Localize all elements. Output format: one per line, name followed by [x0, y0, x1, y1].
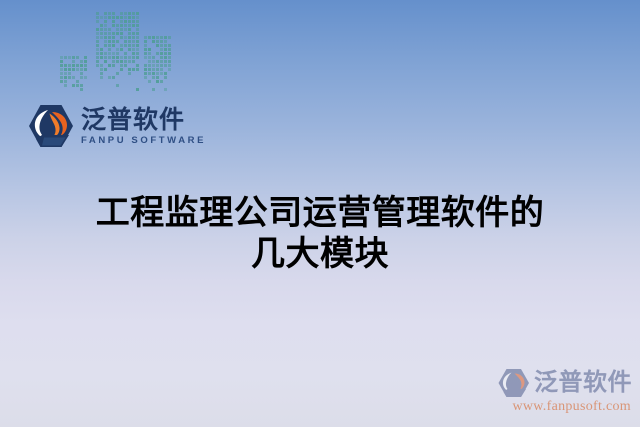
skyline-pixel: [112, 16, 115, 19]
skyline-pixel: [60, 68, 63, 71]
skyline-pixel: [120, 12, 123, 15]
skyline-pixel: [100, 64, 103, 67]
skyline-pixel: [60, 76, 63, 79]
skyline-pixel: [128, 56, 131, 59]
skyline-pixel: [72, 68, 75, 71]
skyline-pixel: [128, 48, 131, 51]
skyline-pixel: [124, 60, 127, 63]
skyline-pixel: [128, 68, 131, 71]
skyline-pixel: [132, 24, 135, 27]
skyline-pixel: [168, 52, 171, 55]
skyline-pixel: [100, 28, 103, 31]
skyline-pixel: [108, 12, 111, 15]
skyline-pixel: [124, 40, 127, 43]
skyline-pixel: [124, 64, 127, 67]
skyline-pixel: [144, 48, 147, 51]
skyline-pixel: [144, 44, 147, 47]
skyline-pixel: [156, 52, 159, 55]
skyline-pixel: [116, 32, 119, 35]
skyline-pixel: [96, 52, 99, 55]
skyline-pixel: [108, 64, 111, 67]
skyline-pixel: [128, 36, 131, 39]
skyline-pixel: [60, 56, 63, 59]
skyline-pixel: [112, 32, 115, 35]
skyline-pixel: [84, 64, 87, 67]
skyline-pixel: [124, 52, 127, 55]
skyline-pixel: [164, 64, 167, 67]
skyline-pixel: [164, 88, 167, 91]
skyline-pixel: [104, 32, 107, 35]
skyline-pixel: [84, 56, 87, 59]
skyline-pixel: [132, 68, 135, 71]
page-title: 工程监理公司运营管理软件的 几大模块: [0, 193, 640, 275]
skyline-pixel: [148, 72, 151, 75]
skyline-pixel: [132, 12, 135, 15]
skyline-pixel: [120, 28, 123, 31]
skyline-pixel: [132, 36, 135, 39]
skyline-pixel: [108, 40, 111, 43]
skyline-pixel: [168, 56, 171, 59]
skyline-pixel: [100, 56, 103, 59]
skyline-pixel: [156, 44, 159, 47]
skyline-pixel: [60, 64, 63, 67]
skyline-pixel: [112, 12, 115, 15]
skyline-pixel: [96, 36, 99, 39]
skyline-pixel: [168, 60, 171, 63]
skyline-pixel: [104, 28, 107, 31]
skyline-pixel: [116, 60, 119, 63]
skyline-pixel: [164, 56, 167, 59]
skyline-pixel: [160, 68, 163, 71]
skyline-pixel: [64, 84, 67, 87]
skyline-pixel: [132, 20, 135, 23]
skyline-pixel: [148, 56, 151, 59]
skyline-pixel: [160, 44, 163, 47]
skyline-pixel: [136, 88, 139, 91]
skyline-pixel: [132, 16, 135, 19]
skyline-pixel: [136, 44, 139, 47]
skyline-pixel: [104, 68, 107, 71]
page-title-line-2: 几大模块: [0, 234, 640, 275]
skyline-pixel: [80, 76, 83, 79]
skyline-pixel: [148, 36, 151, 39]
skyline-pixel: [128, 40, 131, 43]
skyline-pixel: [104, 36, 107, 39]
skyline-pixel: [152, 60, 155, 63]
skyline-pixel: [104, 52, 107, 55]
skyline-pixel: [144, 56, 147, 59]
skyline-pixel: [72, 76, 75, 79]
skyline-pixel: [60, 72, 63, 75]
skyline-pixel: [144, 76, 147, 79]
skyline-pixel: [112, 20, 115, 23]
skyline-pixel: [96, 60, 99, 63]
skyline-pixel: [104, 40, 107, 43]
skyline-pixel: [128, 60, 131, 63]
skyline-pixel: [128, 72, 131, 75]
fanpu-logo-mark-icon: [28, 104, 74, 148]
skyline-pixel: [100, 76, 103, 79]
skyline-pixel: [128, 28, 131, 31]
skyline-pixel: [104, 60, 107, 63]
skyline-pixel: [96, 12, 99, 15]
skyline-pixel: [148, 80, 151, 83]
skyline-pixel: [120, 64, 123, 67]
skyline-pixel: [64, 76, 67, 79]
skyline-pixel: [152, 40, 155, 43]
skyline-pixel: [80, 64, 83, 67]
skyline-pixel: [132, 52, 135, 55]
skyline-pixel: [104, 16, 107, 19]
skyline-pixel: [100, 48, 103, 51]
skyline-pixel: [136, 32, 139, 35]
skyline-pixel: [120, 20, 123, 23]
skyline-pixel: [72, 56, 75, 59]
skyline-pixel: [112, 60, 115, 63]
skyline-pixel: [120, 56, 123, 59]
skyline-pixel: [156, 60, 159, 63]
skyline-pixel: [164, 60, 167, 63]
skyline-pixel: [160, 64, 163, 67]
skyline-pixel: [68, 64, 71, 67]
skyline-pixel: [148, 48, 151, 51]
skyline-pixel: [112, 64, 115, 67]
skyline-pixel: [104, 20, 107, 23]
skyline-pixel: [148, 68, 151, 71]
skyline-pixel: [144, 36, 147, 39]
skyline-pixel: [156, 80, 159, 83]
skyline-pixel: [120, 32, 123, 35]
skyline-pixel: [152, 68, 155, 71]
brand-name-chinese: 泛普软件: [81, 107, 206, 134]
skyline-pixel: [124, 56, 127, 59]
skyline-pixel: [164, 72, 167, 75]
skyline-pixel: [160, 80, 163, 83]
skyline-pixel: [132, 56, 135, 59]
skyline-pixel: [72, 64, 75, 67]
skyline-pixel: [136, 28, 139, 31]
watermark-logo-row: 泛普软件: [488, 368, 632, 398]
skyline-pixel: [132, 60, 135, 63]
skyline-pixel: [112, 52, 115, 55]
skyline-pixel: [124, 44, 127, 47]
promo-slide: 泛普软件 FANPU SOFTWARE 工程监理公司运营管理软件的 几大模块 泛…: [0, 0, 640, 427]
skyline-pixel: [68, 68, 71, 71]
skyline-pixel: [116, 72, 119, 75]
skyline-pixel: [76, 64, 79, 67]
skyline-pixel: [164, 40, 167, 43]
skyline-pixel: [124, 20, 127, 23]
skyline-pixel: [160, 40, 163, 43]
skyline-pixel: [72, 84, 75, 87]
skyline-pixel: [72, 60, 75, 63]
skyline-pixel: [136, 16, 139, 19]
skyline-pixel: [136, 56, 139, 59]
skyline-pixel: [148, 60, 151, 63]
skyline-pixel: [100, 16, 103, 19]
skyline-pixel: [136, 20, 139, 23]
skyline-pixel: [120, 48, 123, 51]
skyline-pixel: [108, 48, 111, 51]
skyline-pixel: [164, 44, 167, 47]
skyline-pixel: [148, 52, 151, 55]
skyline-pixel: [108, 16, 111, 19]
skyline-pixel: [128, 20, 131, 23]
skyline-pixel: [164, 36, 167, 39]
skyline-pixel: [136, 40, 139, 43]
page-title-line-1: 工程监理公司运营管理软件的: [0, 193, 640, 234]
skyline-pixel: [108, 76, 111, 79]
skyline-pixel: [100, 52, 103, 55]
skyline-pixel: [80, 60, 83, 63]
skyline-pixel: [160, 60, 163, 63]
brand-name-english: FANPU SOFTWARE: [81, 135, 206, 147]
skyline-pixel: [164, 76, 167, 79]
skyline-pixel: [76, 80, 79, 83]
skyline-pixel: [168, 68, 171, 71]
skyline-pixel: [160, 72, 163, 75]
skyline-pixel: [120, 24, 123, 27]
skyline-pixel: [112, 40, 115, 43]
skyline-pixel: [96, 20, 99, 23]
skyline-pixel: [112, 36, 115, 39]
skyline-pixel: [164, 48, 167, 51]
skyline-pixel: [100, 36, 103, 39]
skyline-pixel: [96, 44, 99, 47]
skyline-pixel: [132, 44, 135, 47]
skyline-pixel: [112, 44, 115, 47]
skyline-pixel: [112, 24, 115, 27]
skyline-pixel: [128, 24, 131, 27]
skyline-pixel: [104, 44, 107, 47]
skyline-pixel: [108, 32, 111, 35]
skyline-pixel: [120, 44, 123, 47]
skyline-pixel: [108, 52, 111, 55]
skyline-pixel: [156, 36, 159, 39]
skyline-pixel: [156, 40, 159, 43]
skyline-pixel: [112, 76, 115, 79]
brand-logo: 泛普软件 FANPU SOFTWARE: [28, 104, 206, 148]
skyline-pixel: [100, 72, 103, 75]
skyline-pixel: [160, 52, 163, 55]
skyline-pixel: [164, 52, 167, 55]
watermark-url: www.fanpusoft.com: [488, 399, 632, 415]
skyline-pixel: [136, 68, 139, 71]
skyline-pixel: [136, 24, 139, 27]
skyline-pixel: [132, 32, 135, 35]
skyline-pixel: [116, 56, 119, 59]
skyline-pixel: [152, 64, 155, 67]
skyline-pixel: [120, 68, 123, 71]
skyline-pixel: [116, 24, 119, 27]
skyline-pixel: [80, 88, 83, 91]
skyline-pixel: [132, 48, 135, 51]
skyline-pixel: [96, 56, 99, 59]
skyline-pixel: [64, 64, 67, 67]
skyline-pixel: [96, 40, 99, 43]
skyline-pixel: [136, 48, 139, 51]
skyline-pixel: [124, 36, 127, 39]
skyline-pixel: [64, 68, 67, 71]
skyline-pixel: [80, 84, 83, 87]
skyline-pixel: [76, 84, 79, 87]
skyline-pixel: [96, 28, 99, 31]
skyline-pixel: [108, 44, 111, 47]
skyline-pixel: [156, 68, 159, 71]
skyline-pixel: [100, 24, 103, 27]
skyline-pixel: [128, 16, 131, 19]
skyline-pixel: [120, 16, 123, 19]
skyline-pixel: [152, 88, 155, 91]
skyline-pixel: [152, 72, 155, 75]
skyline-pixel: [136, 36, 139, 39]
skyline-pixel: [156, 76, 159, 79]
skyline-pixel: [156, 64, 159, 67]
skyline-pixel: [144, 64, 147, 67]
skyline-pixel: [128, 32, 131, 35]
skyline-pixel: [100, 68, 103, 71]
skyline-pixel: [116, 28, 119, 31]
skyline-pixel: [132, 40, 135, 43]
skyline-pixel: [108, 28, 111, 31]
skyline-pixel: [144, 52, 147, 55]
skyline-pixel: [136, 52, 139, 55]
skyline-pixel: [64, 56, 67, 59]
skyline-pixel: [160, 56, 163, 59]
watermark-brand-name: 泛普软件: [534, 370, 632, 396]
watermark-logo-mark-icon: [498, 368, 530, 398]
skyline-pixel: [112, 56, 115, 59]
skyline-pixel: [168, 48, 171, 51]
skyline-pixel: [104, 56, 107, 59]
skyline-pixel: [124, 28, 127, 31]
skyline-pixel: [160, 48, 163, 51]
skyline-pixel: [144, 68, 147, 71]
skyline-pixel: [136, 12, 139, 15]
skyline-pixel: [136, 64, 139, 67]
skyline-pixel: [128, 44, 131, 47]
skyline-pixel: [100, 32, 103, 35]
skyline-pixel: [124, 24, 127, 27]
skyline-pixel: [68, 56, 71, 59]
skyline-pixel: [68, 76, 71, 79]
skyline-pixel: [104, 12, 107, 15]
skyline-pixel: [128, 12, 131, 15]
skyline-pixel: [104, 24, 107, 27]
skyline-pixel: [84, 68, 87, 71]
skyline-pixel: [60, 60, 63, 63]
skyline-pixel: [80, 68, 83, 71]
skyline-pixel: [156, 72, 159, 75]
skyline-pixel: [152, 76, 155, 79]
skyline-pixel: [124, 16, 127, 19]
skyline-pixel: [120, 36, 123, 39]
skyline-pixel: [96, 48, 99, 51]
skyline-pixel: [116, 16, 119, 19]
skyline-pixel: [144, 40, 147, 43]
skyline-pixel: [80, 72, 83, 75]
pixel-skyline-decoration: [60, 12, 170, 100]
skyline-pixel: [84, 60, 87, 63]
skyline-pixel: [120, 60, 123, 63]
skyline-pixel: [148, 64, 151, 67]
skyline-pixel: [64, 80, 67, 83]
skyline-pixel: [96, 64, 99, 67]
skyline-pixel: [64, 72, 67, 75]
brand-logo-wordmark: 泛普软件 FANPU SOFTWARE: [81, 105, 206, 147]
skyline-pixel: [124, 12, 127, 15]
skyline-pixel: [96, 32, 99, 35]
skyline-pixel: [168, 44, 171, 47]
skyline-pixel: [76, 68, 79, 71]
skyline-pixel: [116, 48, 119, 51]
skyline-pixel: [116, 52, 119, 55]
skyline-pixel: [152, 56, 155, 59]
skyline-pixel: [168, 36, 171, 39]
skyline-pixel: [116, 84, 119, 87]
skyline-pixel: [68, 72, 71, 75]
watermark: 泛普软件 www.fanpusoft.com: [488, 368, 632, 415]
skyline-pixel: [108, 36, 111, 39]
skyline-pixel: [96, 16, 99, 19]
skyline-pixel: [152, 36, 155, 39]
skyline-pixel: [144, 72, 147, 75]
skyline-pixel: [168, 64, 171, 67]
skyline-pixel: [160, 36, 163, 39]
skyline-pixel: [60, 80, 63, 83]
skyline-pixel: [108, 56, 111, 59]
skyline-pixel: [116, 40, 119, 43]
skyline-pixel: [84, 76, 87, 79]
skyline-pixel: [76, 56, 79, 59]
